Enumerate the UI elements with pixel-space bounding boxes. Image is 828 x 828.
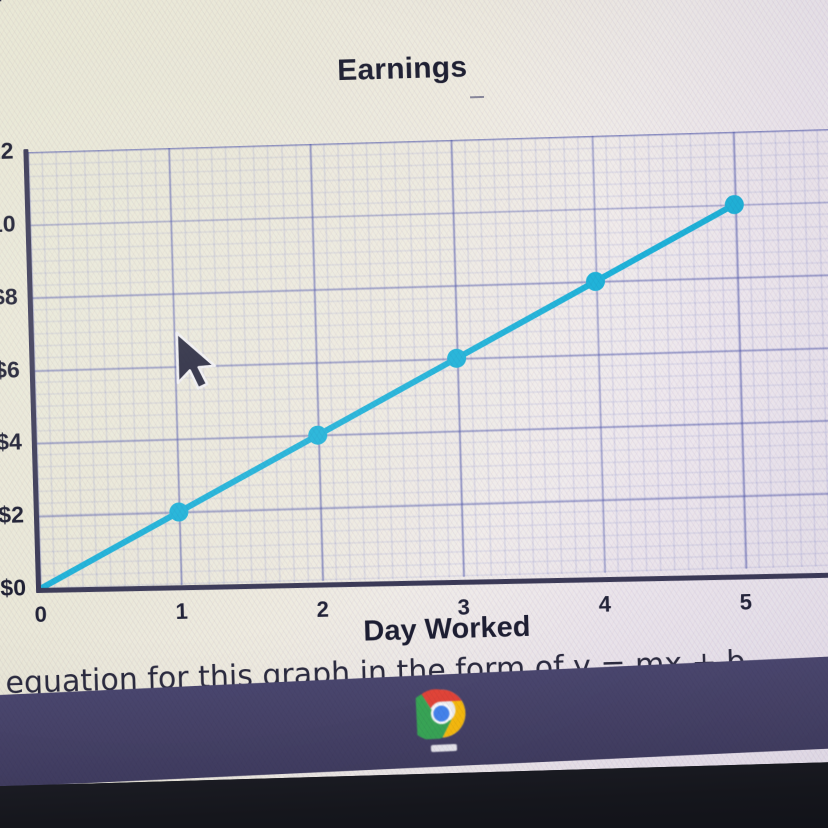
chrome-icon[interactable] — [415, 687, 467, 739]
chrome-active-indicator — [431, 744, 457, 752]
x-axis-tick-label: 4 — [584, 591, 625, 618]
photo-of-laptop-screen: e questions that follow. Earnings $0$2$4… — [0, 0, 828, 828]
laptop-screen: e questions that follow. Earnings $0$2$4… — [0, 0, 828, 787]
earnings-chart: Earnings $0$2$4$6$81012 012345 Day Worke… — [0, 1, 828, 647]
x-axis-tick-labels: 012345 — [0, 1, 828, 647]
x-axis-tick-label: 2 — [302, 596, 343, 623]
x-axis-tick-label: 0 — [20, 601, 61, 628]
x-axis-tick-label: 1 — [161, 599, 202, 626]
x-axis-title: Day Worked — [363, 611, 531, 649]
x-axis-tick-label: 5 — [725, 589, 766, 616]
